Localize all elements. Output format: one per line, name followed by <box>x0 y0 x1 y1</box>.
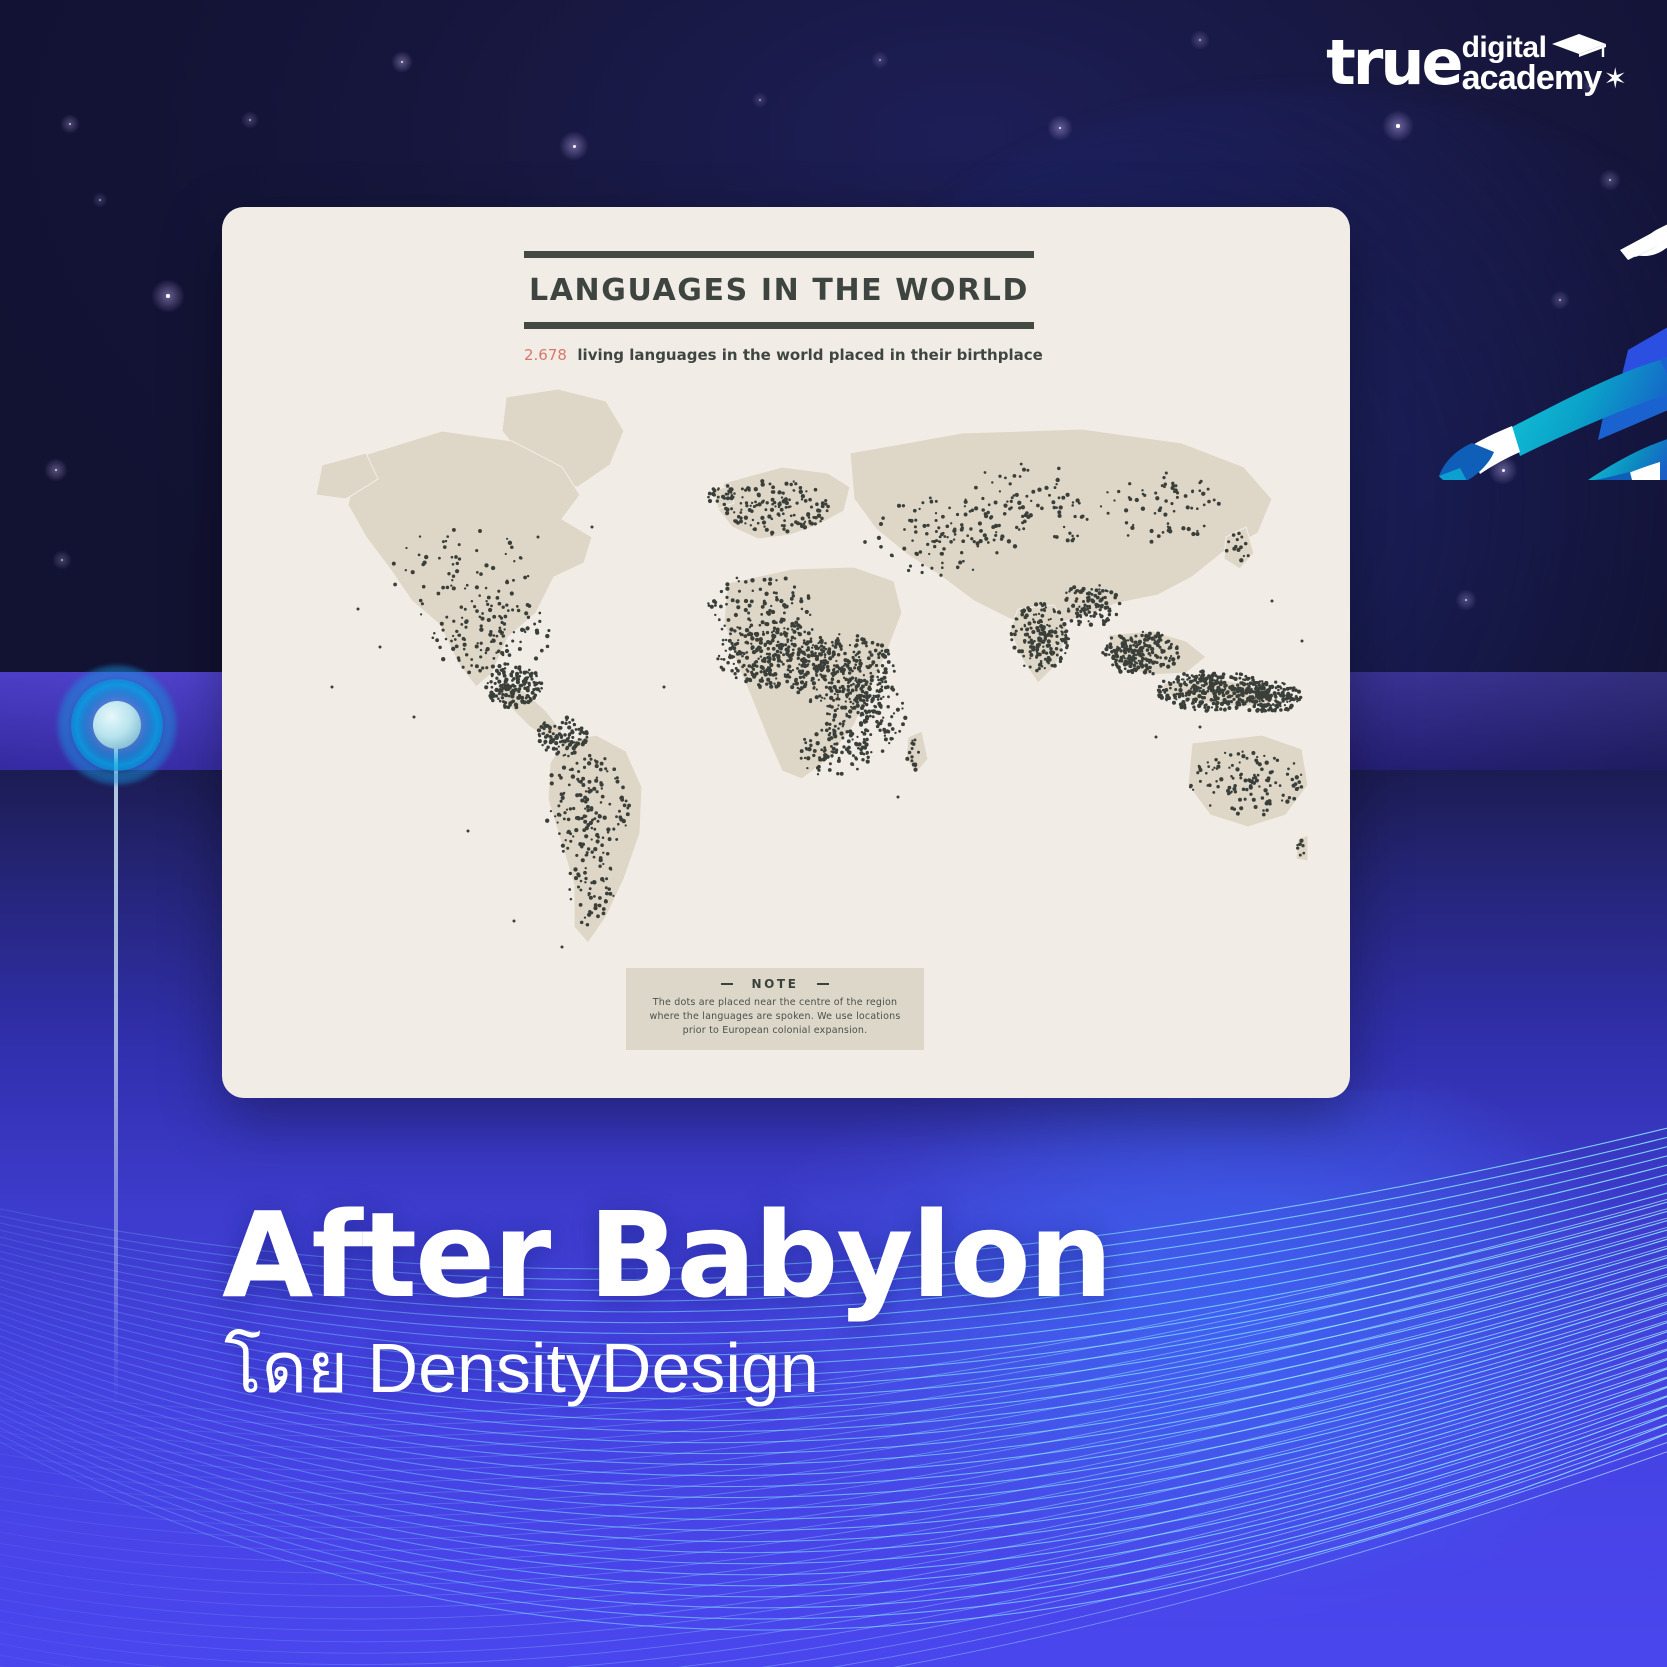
note-dash-right <box>817 983 829 985</box>
logo-academy-text: academy <box>1462 62 1602 95</box>
logo-digital-text: digital <box>1462 33 1547 62</box>
logo-asterisk-icon: ✶ <box>1604 65 1627 92</box>
floating-astronaut-figure <box>1360 200 1667 480</box>
poster-canvas: true digital academy ✶ LANGUAGES IN THE … <box>0 0 1667 1667</box>
poster-subheadline: โดย DensityDesign <box>224 1330 819 1407</box>
language-count: 2.678 <box>524 346 567 364</box>
title-rule-bottom <box>524 322 1034 329</box>
world-map[interactable] <box>262 387 1310 967</box>
graduation-cap-icon <box>1550 32 1608 62</box>
card-inner: LANGUAGES IN THE WORLD 2.678 living lang… <box>222 207 1350 1098</box>
note-text: The dots are placed near the centre of t… <box>626 991 924 1037</box>
note-dash-left <box>721 983 733 985</box>
glowing-orb <box>57 665 177 785</box>
note-box: NOTE The dots are placed near the centre… <box>626 968 924 1050</box>
infographic-card[interactable]: LANGUAGES IN THE WORLD 2.678 living lang… <box>222 207 1350 1098</box>
brand-logo: true digital academy ✶ <box>1326 22 1627 104</box>
card-title-block: LANGUAGES IN THE WORLD <box>524 251 1034 329</box>
poster-headline: After Babylon <box>222 1196 1111 1314</box>
blue-blob-highlight <box>880 1090 1667 1667</box>
logo-digital-row: digital <box>1462 32 1627 62</box>
card-subtitle: 2.678 living languages in the world plac… <box>524 346 1044 364</box>
orb-stem <box>114 745 118 1405</box>
subtitle-text: living languages in the world placed in … <box>577 346 1042 364</box>
orb-core <box>93 701 141 749</box>
logo-true-text: true <box>1326 32 1460 94</box>
world-map-svg <box>262 387 1310 967</box>
note-header: NOTE <box>626 968 924 991</box>
logo-stack: digital academy ✶ <box>1462 32 1627 95</box>
logo-academy-row: academy ✶ <box>1462 62 1627 95</box>
page-title: LANGUAGES IN THE WORLD <box>524 258 1034 322</box>
title-rule-top <box>524 251 1034 258</box>
note-label: NOTE <box>751 977 798 991</box>
